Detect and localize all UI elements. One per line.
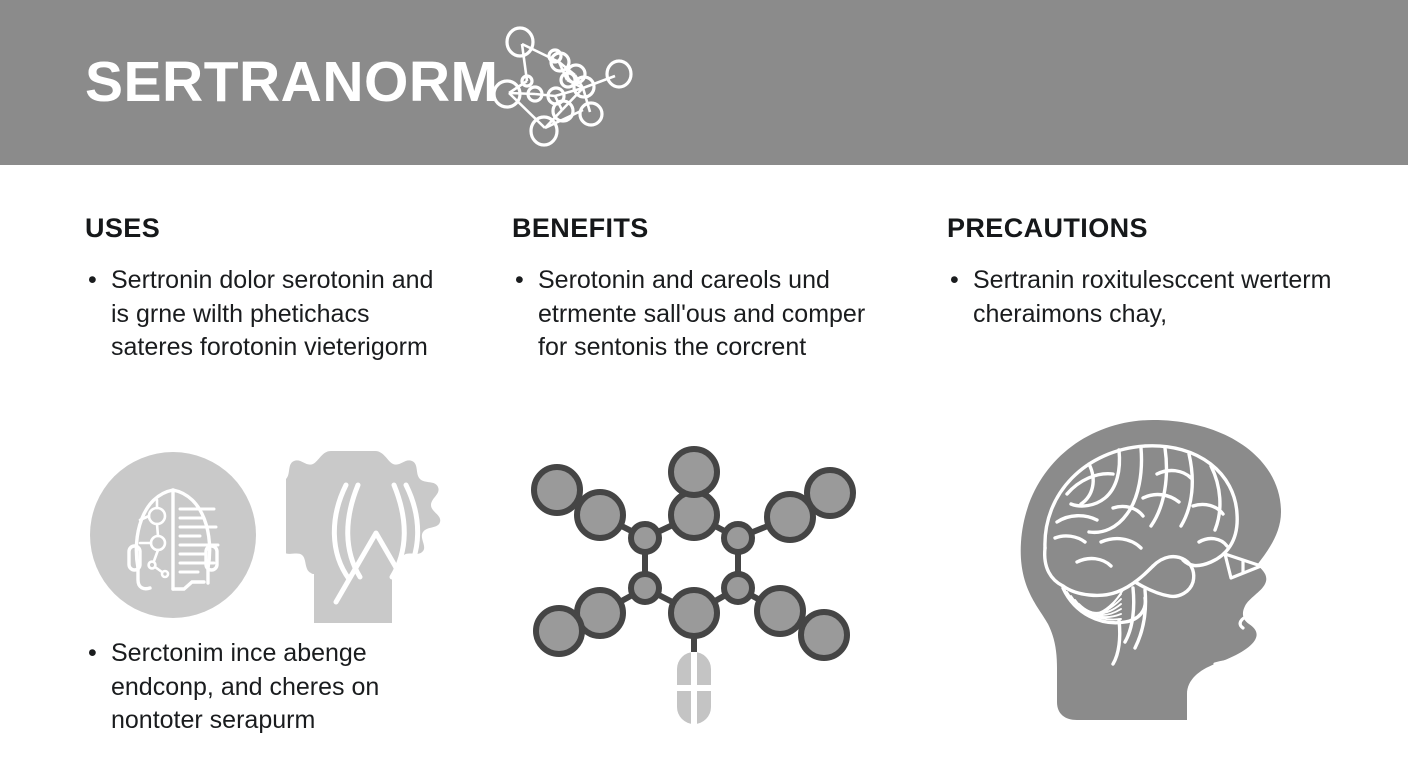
neuron-cell-icon [286, 447, 466, 625]
list-item: • Sertronin dolor serotonin and is grne … [85, 264, 455, 365]
list-item: • Sertranin roxitulesccent werterm chera… [947, 264, 1347, 331]
uses-icon-row [88, 447, 468, 622]
bullet-marker: • [950, 264, 959, 298]
molecule-diagram-icon [522, 445, 867, 730]
list-item-text: Sertronin dolor serotonin and is grne wi… [111, 266, 433, 361]
list-item-text: Serctonim ince abenge endconp, and chere… [111, 639, 379, 734]
bullet-marker: • [515, 264, 524, 298]
list-item-text: Serotonin and careols und etrmente sall'… [538, 266, 865, 361]
column-benefits: BENEFITS • Serotonin and careols und etr… [512, 215, 882, 371]
column-precautions: PRECAUTIONS • Sertranin roxitulesccent w… [947, 215, 1347, 337]
bullet-list-precautions: • Sertranin roxitulesccent werterm chera… [947, 264, 1347, 331]
list-item: • Serotonin and careols und etrmente sal… [512, 264, 882, 365]
infographic-page: SERTRANORM [0, 0, 1408, 768]
head-brain-profile-icon [993, 402, 1318, 760]
bullet-list-uses: • Sertronin dolor serotonin and is grne … [85, 264, 455, 365]
bullet-marker: • [88, 264, 97, 298]
header-band: SERTRANORM [0, 0, 1408, 165]
molecular-network-icon [487, 18, 642, 148]
head-circuit-circle-icon [88, 450, 258, 620]
heading-precautions: PRECAUTIONS [947, 215, 1347, 242]
page-title: SERTRANORM [85, 54, 499, 111]
bullet-marker: • [88, 637, 97, 671]
bullet-list-benefits: • Serotonin and careols und etrmente sal… [512, 264, 882, 365]
uses-second-bullet: • Serctonim ince abenge endconp, and che… [85, 637, 465, 744]
list-item: • Serctonim ince abenge endconp, and che… [85, 637, 465, 738]
heading-benefits: BENEFITS [512, 215, 882, 242]
heading-uses: USES [85, 215, 455, 242]
list-item-text: Sertranin roxitulesccent werterm cheraim… [973, 266, 1331, 328]
capsule-shape [677, 652, 711, 724]
column-uses: USES • Sertronin dolor serotonin and is … [85, 215, 455, 371]
bullet-list-uses-secondary: • Serctonim ince abenge endconp, and che… [85, 637, 465, 738]
